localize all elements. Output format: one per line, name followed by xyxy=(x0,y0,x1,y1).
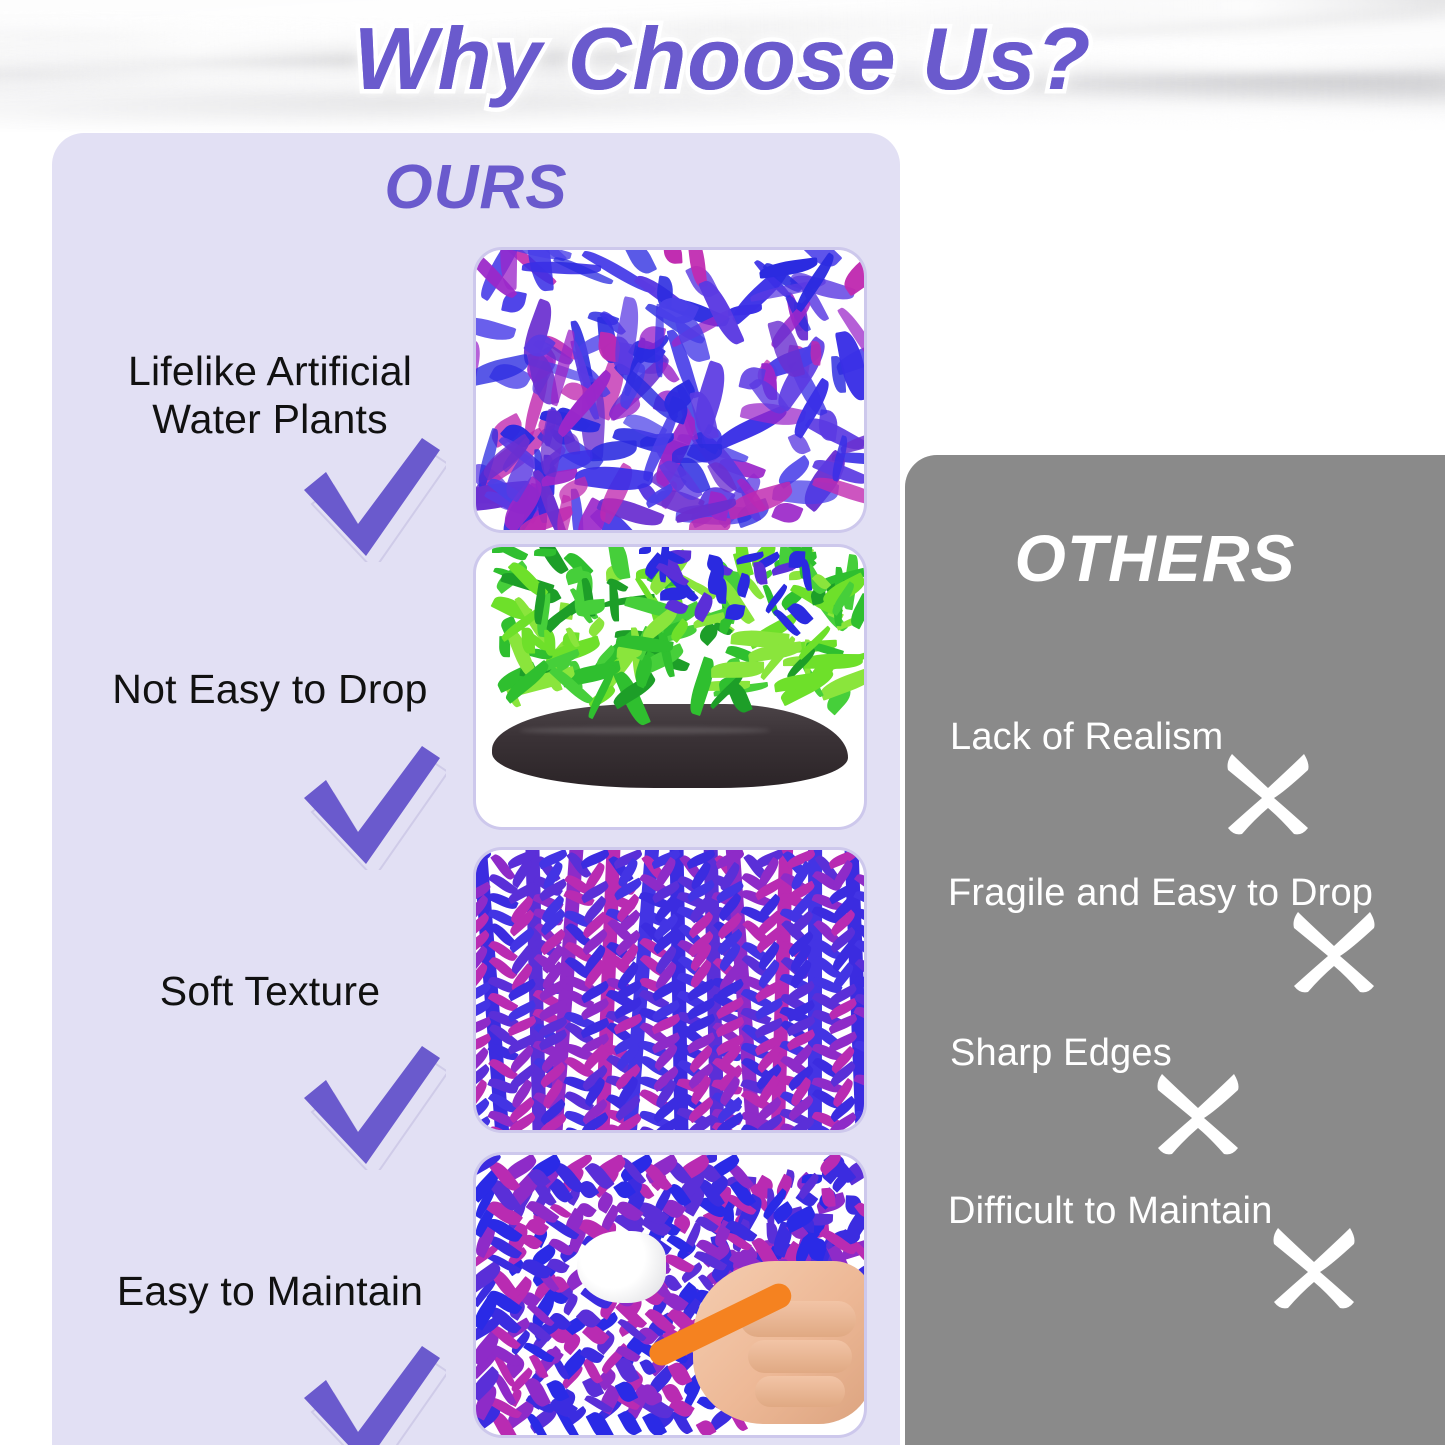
ours-feature-label-3: Soft Texture xyxy=(70,968,470,1016)
infographic-root: Why Choose Us? Why Choose Us? OURS OTHER… xyxy=(0,0,1445,1445)
cross-icon xyxy=(1152,1068,1244,1160)
check-icon xyxy=(296,1040,446,1170)
others-feature-label-3: Sharp Edges xyxy=(950,1032,1172,1075)
check-icon xyxy=(296,1340,446,1445)
cross-icon xyxy=(1222,748,1314,840)
others-feature-label-4: Difficult to Maintain xyxy=(948,1190,1273,1233)
product-image-soft-texture xyxy=(476,850,864,1130)
page-title: Why Choose Us? xyxy=(0,8,1445,110)
product-image-lifelike-plants xyxy=(476,250,864,530)
cross-icon xyxy=(1288,906,1380,998)
ours-feature-label-4: Easy to Maintain xyxy=(70,1268,470,1316)
check-icon xyxy=(296,740,446,870)
cross-icon xyxy=(1268,1222,1360,1314)
check-icon xyxy=(296,432,446,562)
ours-feature-label-1: Lifelike ArtificialWater Plants xyxy=(70,348,470,444)
ours-feature-label-2: Not Easy to Drop xyxy=(70,666,470,714)
ours-heading: OURS xyxy=(52,152,900,223)
others-feature-label-1: Lack of Realism xyxy=(950,716,1223,759)
product-image-driftwood-base xyxy=(476,547,864,827)
others-heading: OTHERS xyxy=(905,520,1405,596)
product-image-easy-maintain xyxy=(476,1155,864,1435)
